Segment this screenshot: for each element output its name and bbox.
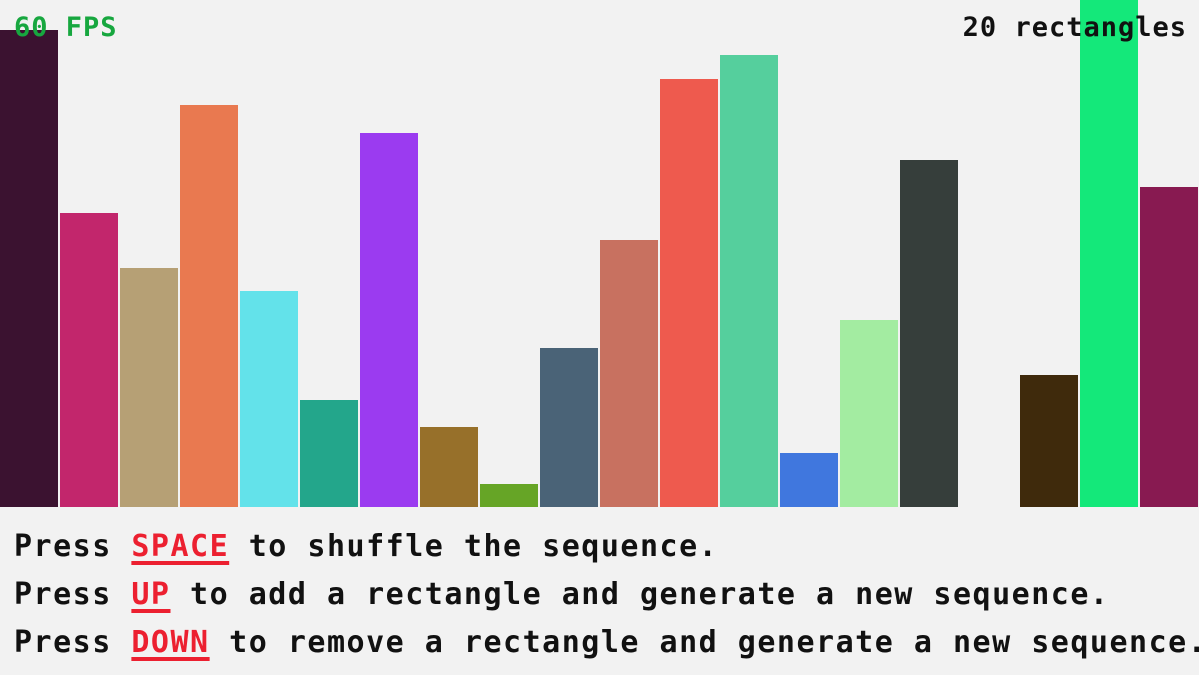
bar-1-dark-plum bbox=[0, 30, 58, 507]
instruction-line-2: Press UP to add a rectangle and generate… bbox=[14, 571, 1199, 619]
bar-3-tan bbox=[120, 268, 178, 507]
bar-15-light-green bbox=[840, 320, 898, 507]
instruction-suffix: to shuffle the sequence. bbox=[229, 529, 718, 564]
bar-2-magenta bbox=[60, 213, 118, 507]
bar-12-red bbox=[660, 79, 718, 507]
instruction-prefix: Press bbox=[14, 577, 131, 612]
bar-20-dark-magenta bbox=[1140, 187, 1198, 507]
bar-7-purple bbox=[360, 133, 418, 507]
key-space[interactable]: SPACE bbox=[131, 529, 229, 564]
instruction-prefix: Press bbox=[14, 529, 131, 564]
instruction-line-3: Press DOWN to remove a rectangle and gen… bbox=[14, 619, 1199, 667]
bar-6-teal bbox=[300, 400, 358, 507]
bar-5-cyan bbox=[240, 291, 298, 507]
bar-10-slate-blue bbox=[540, 348, 598, 507]
bar-9-olive-green bbox=[480, 484, 538, 507]
bar-18-dark-brown bbox=[1020, 375, 1078, 507]
app-window: 60 FPS 20 rectangles Press SPACE to shuf… bbox=[0, 0, 1199, 675]
bar-14-blue bbox=[780, 453, 838, 507]
bar-4-orange bbox=[180, 105, 238, 507]
instruction-line-1: Press SPACE to shuffle the sequence. bbox=[14, 523, 1199, 571]
key-up[interactable]: UP bbox=[131, 577, 170, 612]
bar-8-brown bbox=[420, 427, 478, 507]
rectangle-count-label: 20 rectangles bbox=[963, 14, 1187, 41]
bar-13-mint-green bbox=[720, 55, 778, 507]
instruction-suffix: to add a rectangle and generate a new se… bbox=[171, 577, 1110, 612]
key-down[interactable]: DOWN bbox=[131, 625, 209, 660]
fps-counter: 60 FPS bbox=[14, 14, 118, 41]
bar-16-dark-charcoal bbox=[900, 160, 958, 507]
instructions-panel: Press SPACE to shuffle the sequence.Pres… bbox=[0, 507, 1199, 675]
instruction-suffix: to remove a rectangle and generate a new… bbox=[210, 625, 1199, 660]
instruction-prefix: Press bbox=[14, 625, 131, 660]
bar-19-bright-green bbox=[1080, 0, 1138, 507]
bar-chart-canvas[interactable] bbox=[0, 0, 1199, 507]
bar-11-terracotta bbox=[600, 240, 658, 507]
